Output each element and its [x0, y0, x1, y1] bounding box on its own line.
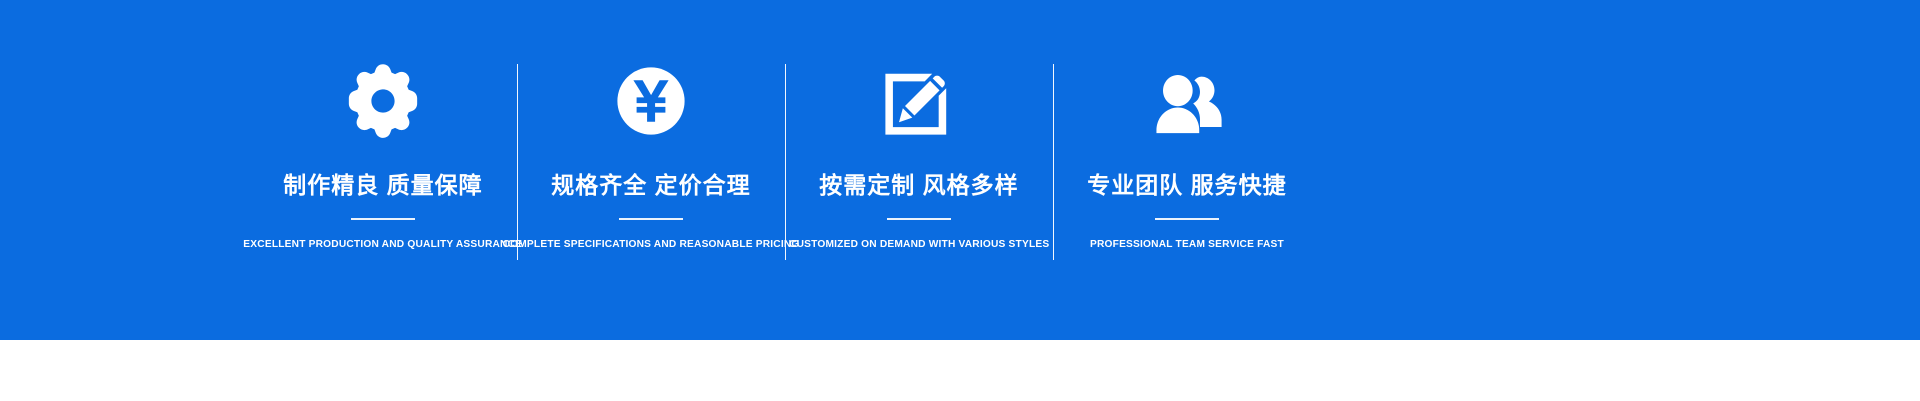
feature-subtitle: EXCELLENT PRODUCTION AND QUALITY ASSURAN…: [244, 238, 523, 250]
feature-divider-rule: [1155, 218, 1219, 220]
feature-divider-rule: [887, 218, 951, 220]
feature-item-team[interactable]: 专业团队 服务快捷 PROFESSIONAL TEAM SERVICE FAST: [1053, 0, 1321, 340]
feature-divider-rule: [619, 218, 683, 220]
yen-coin-icon: [608, 58, 694, 144]
pencil-edit-icon: [876, 58, 962, 144]
feature-title: 按需定制 风格多样: [819, 172, 1018, 200]
feature-item-custom[interactable]: 按需定制 风格多样 CUSTOMIZED ON DEMAND WITH VARI…: [785, 0, 1053, 340]
gear-icon: [340, 58, 426, 144]
features-row: 制作精良 质量保障 EXCELLENT PRODUCTION AND QUALI…: [249, 0, 1321, 340]
feature-item-quality[interactable]: 制作精良 质量保障 EXCELLENT PRODUCTION AND QUALI…: [249, 0, 517, 340]
feature-subtitle: CUSTOMIZED ON DEMAND WITH VARIOUS STYLES: [789, 238, 1049, 250]
feature-title: 专业团队 服务快捷: [1087, 172, 1286, 200]
feature-title: 规格齐全 定价合理: [551, 172, 750, 200]
team-people-icon: [1144, 58, 1230, 144]
feature-title: 制作精良 质量保障: [283, 172, 482, 200]
feature-divider-rule: [351, 218, 415, 220]
feature-banner: 制作精良 质量保障 EXCELLENT PRODUCTION AND QUALI…: [0, 0, 1920, 401]
feature-item-pricing[interactable]: 规格齐全 定价合理 COMPLETE SPECIFICATIONS AND RE…: [517, 0, 785, 340]
feature-subtitle: COMPLETE SPECIFICATIONS AND REASONABLE P…: [503, 238, 800, 250]
feature-subtitle: PROFESSIONAL TEAM SERVICE FAST: [1090, 238, 1284, 250]
